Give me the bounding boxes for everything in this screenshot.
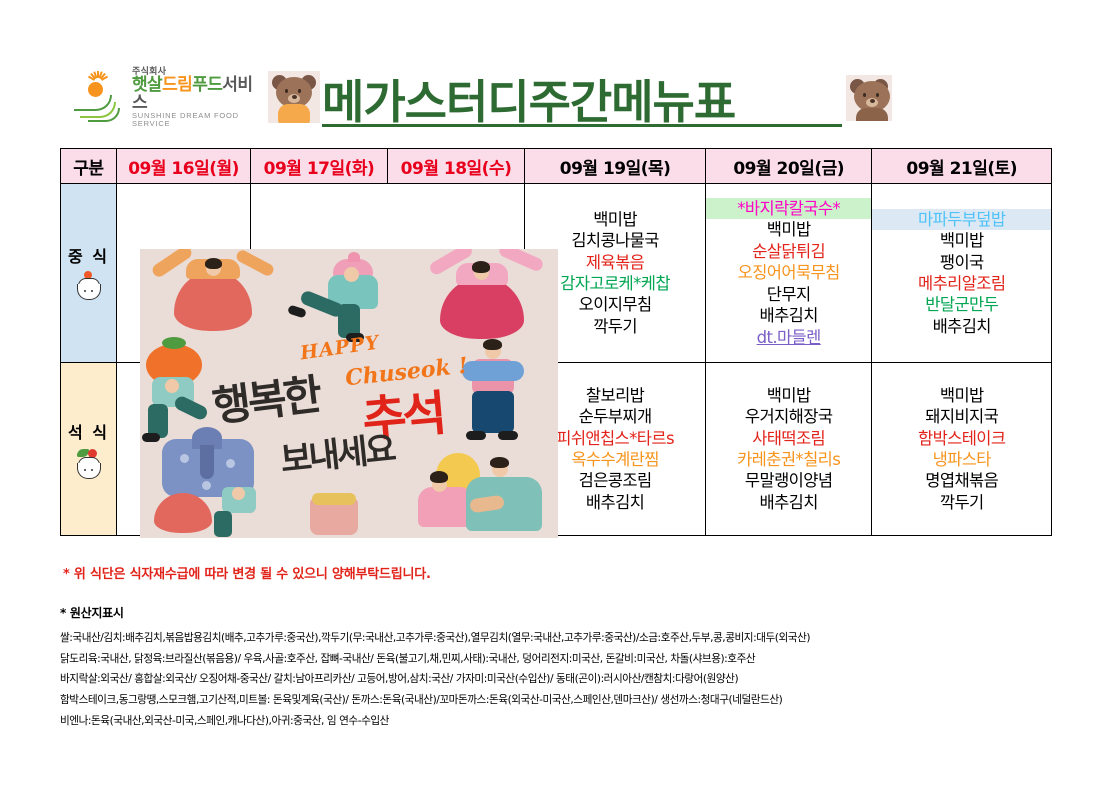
- bear-mascot-right-icon: [846, 75, 892, 121]
- menu-cell-fri-dinner: 백미밥 우거지해장국 사태떡조림 카레춘권*칠리s 무말랭이양념 배추김치: [705, 363, 872, 536]
- dish-item-dessert: dt.마들렌: [706, 327, 872, 348]
- dish-item: 순살닭튀김: [706, 241, 872, 262]
- dish-item: 백미밥: [872, 230, 1051, 251]
- dish-item: 사태떡조림: [706, 428, 872, 449]
- dish-item: 우거지해장국: [706, 406, 872, 427]
- column-header-wed: 09월 18일(수): [387, 149, 525, 184]
- illustration-korean-3: 보내세요: [278, 421, 396, 482]
- meal-label-dinner-text: 석 식: [68, 419, 109, 443]
- dish-item: 배추김치: [706, 305, 872, 326]
- column-header-sat: 09월 21일(토): [872, 149, 1052, 184]
- dish-item: 냉파스타: [872, 449, 1051, 470]
- origin-line: 비엔나:돈육(국내산,외국산-미국,스페인,캐나다산),아귀:중국산, 임 연수…: [60, 711, 1070, 732]
- dish-item: 백미밥: [525, 209, 705, 230]
- illustration-happy-text: HAPPY: [299, 332, 381, 365]
- dish-item: 오징어어묵무침: [706, 262, 872, 283]
- dish-item: 단무지: [706, 284, 872, 305]
- company-name-c: 푸드: [192, 75, 222, 94]
- company-logo: 주식회사 햇살드림푸드서비스 SUNSHINE DREAM FOOD SERVI…: [72, 68, 264, 126]
- dish-item: 팽이국: [872, 252, 1051, 273]
- dish-item: 함박스테이크: [872, 428, 1051, 449]
- meal-label-dinner: 석 식: [61, 363, 117, 536]
- menu-cell-sat-lunch: 마파두부덮밥 백미밥 팽이국 메추리알조림 반달군만두 배추김치: [872, 184, 1052, 363]
- origin-title: * 원산지표시: [60, 604, 1070, 621]
- origin-line: 바지락살:외국산/ 홍합살:외국산/ 오징어채-중국산/ 갈치:남아프리카산/ …: [60, 669, 1070, 690]
- column-header-thu: 09월 19일(목): [525, 149, 706, 184]
- title-underline: [322, 124, 842, 127]
- dinner-chef-icon: [73, 449, 103, 479]
- company-name-a: 햇살: [132, 75, 162, 94]
- company-name: 햇살드림푸드서비스: [132, 76, 264, 112]
- dish-item: 명엽채볶음: [872, 470, 1051, 491]
- company-line3: SUNSHINE DREAM FOOD SERVICE: [132, 112, 264, 128]
- column-header-fri: 09월 20일(금): [705, 149, 872, 184]
- dish-item: 깍두기: [872, 492, 1051, 513]
- origin-line: 쌀:국내산/김치:배추김치,볶음밥용김치(배추,고추가루:중국산),깍두기(무:…: [60, 628, 1070, 649]
- illustration-korean-1: 행복한: [209, 361, 323, 435]
- dish-item: 배추김치: [872, 316, 1051, 337]
- menu-cell-sat-dinner: 백미밥 돼지비지국 함박스테이크 냉파스타 명엽채볶음 깍두기: [872, 363, 1052, 536]
- dish-item: 배추김치: [706, 492, 872, 513]
- dish-item: 백미밥: [706, 219, 872, 240]
- chuseok-illustration: HAPPY Chuseok ! 행복한 추석 보내세요: [140, 249, 558, 538]
- dish-item: 메추리알조림: [872, 273, 1051, 294]
- dish-item: 백미밥: [872, 385, 1051, 406]
- dish-item: 무말랭이양념: [706, 470, 872, 491]
- column-header-tue: 09월 17일(화): [251, 149, 388, 184]
- sunshine-logo-icon: [72, 71, 128, 123]
- origin-disclosure-block: * 원산지표시 쌀:국내산/김치:배추김치,볶음밥용김치(배추,고추가루:중국산…: [60, 604, 1070, 731]
- company-name-b: 드림: [162, 75, 192, 94]
- dish-item: 백미밥: [706, 385, 872, 406]
- dish-item: 카레춘권*칠리s: [706, 449, 872, 470]
- dish-item-special: *바지락칼국수*: [706, 198, 872, 219]
- origin-line: 함박스테이크,동그랑땡,스모크햄,고기산적,미트볼: 돈육및계육(국산)/ 돈까…: [60, 690, 1070, 711]
- bear-mascot-left-icon: [268, 71, 320, 123]
- page-title: 메가스터디주간메뉴표: [322, 66, 842, 132]
- menu-change-note: * 위 식단은 식자재수급에 따라 변경 될 수 있으니 양해부탁드립니다.: [63, 563, 431, 582]
- meal-label-lunch-text: 중 식: [68, 243, 109, 267]
- table-header-row: 구분 09월 16일(월) 09월 17일(화) 09월 18일(수) 09월 …: [61, 149, 1052, 184]
- dish-item: 돼지비지국: [872, 406, 1051, 427]
- menu-cell-fri-lunch: *바지락칼국수* 백미밥 순살닭튀김 오징어어묵무침 단무지 배추김치 dt.마…: [705, 184, 872, 363]
- column-header-gubun: 구분: [61, 149, 117, 184]
- dish-item-special: 마파두부덮밥: [872, 209, 1051, 230]
- dish-item: 반달군만두: [872, 294, 1051, 315]
- origin-line: 닭도리육:국내산, 닭정육:브라질산(볶음용)/ 우육,사골:호주산, 잡뼈-국…: [60, 649, 1070, 670]
- meal-label-lunch: 중 식: [61, 184, 117, 363]
- lunch-chef-icon: [73, 273, 103, 303]
- column-header-mon: 09월 16일(월): [116, 149, 250, 184]
